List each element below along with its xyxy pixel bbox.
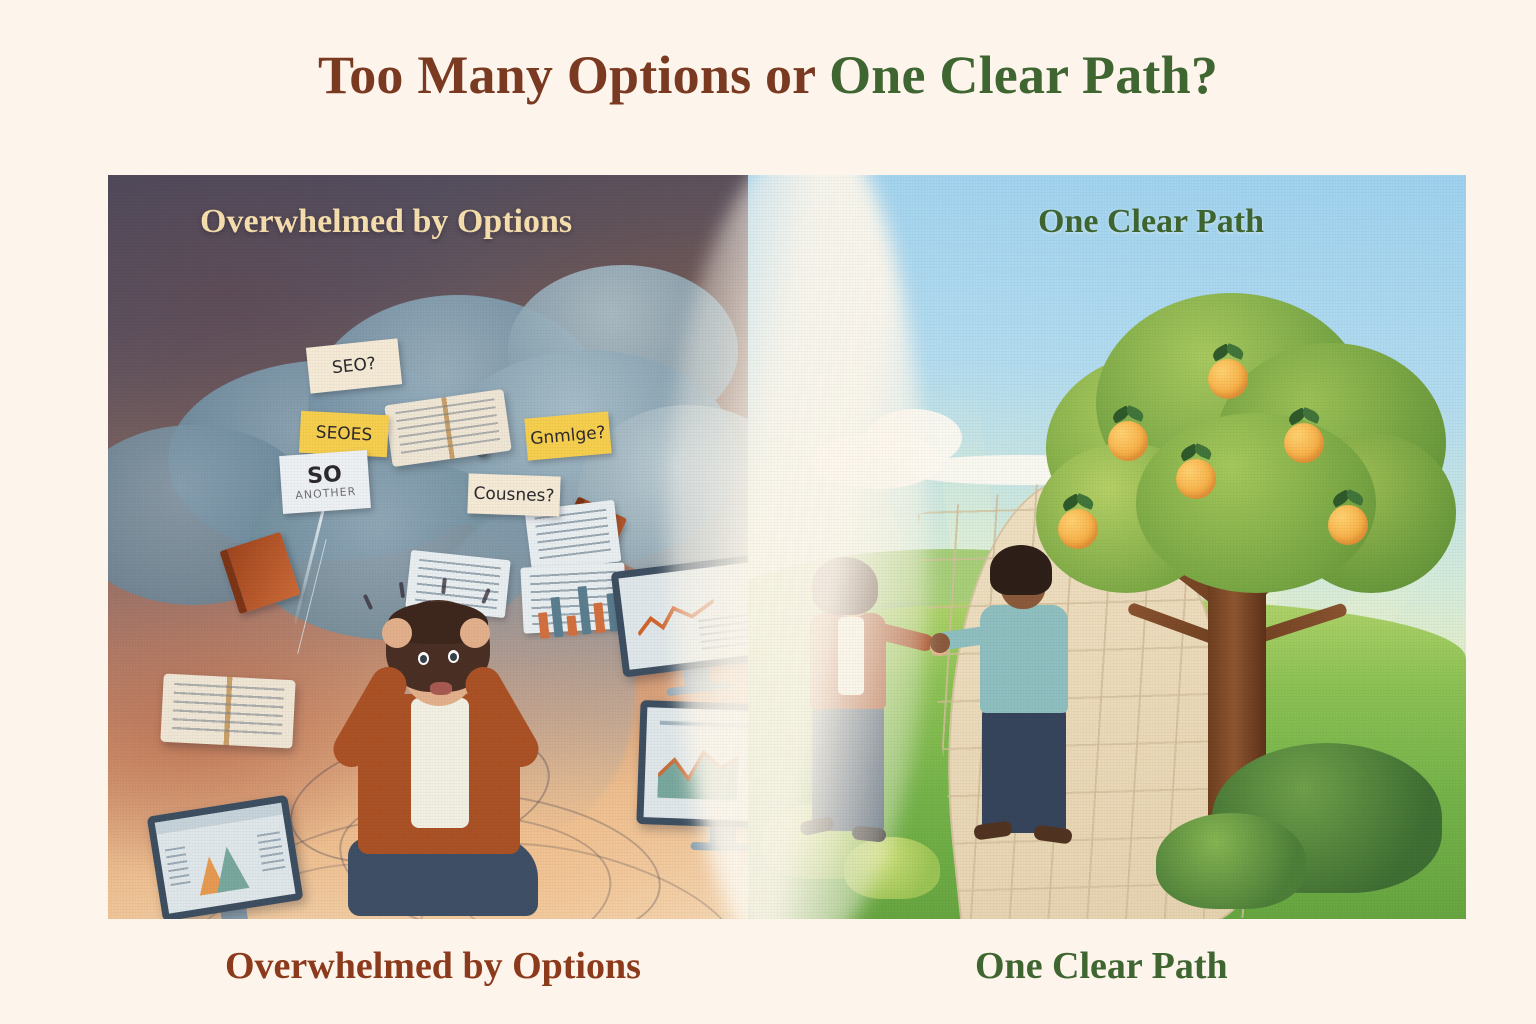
- page-title: Too Many Options or One Clear Path?: [0, 48, 1536, 102]
- fruit-icon: [1284, 423, 1324, 463]
- fruit-icon: [1208, 359, 1248, 399]
- man-hair: [990, 545, 1052, 595]
- poster-canvas: Too Many Options or One Clear Path? ?: [0, 0, 1536, 1024]
- fruit-icon: [1328, 505, 1368, 545]
- stressed-woman-figure: [308, 590, 558, 919]
- caption-left: Overwhelmed by Options: [225, 944, 641, 988]
- figure-hand-right: [460, 618, 490, 648]
- open-book-icon: [160, 673, 295, 748]
- sticky-note-cousnes: Cousnes?: [467, 473, 560, 516]
- title-green-part: One Clear Path?: [829, 45, 1218, 105]
- man-hand: [930, 633, 950, 653]
- caption-right: One Clear Path: [975, 944, 1228, 988]
- sticky-note-so: SO ANOTHER: [279, 450, 371, 514]
- figure-hand-left: [382, 618, 412, 648]
- sticky-note-seoes: SEOES: [299, 411, 389, 458]
- figure-eye: [418, 652, 429, 665]
- shrub: [1156, 813, 1306, 909]
- woman-shoe: [851, 825, 886, 842]
- man-shoe: [1033, 824, 1073, 844]
- monitor-mountain-chart: [147, 795, 308, 919]
- illustration-frame: ? SEO? SEOES SO ANOTHER Gnmlge? Cousnes?: [108, 175, 1466, 919]
- sticky-note-so-sub: ANOTHER: [295, 486, 357, 502]
- sticky-note-seo: SEO?: [306, 338, 402, 393]
- sticky-note-gnmlge: Gnmlge?: [524, 411, 611, 460]
- fruit-icon: [1176, 459, 1216, 499]
- mountain-chart-icon: [192, 836, 258, 896]
- left-panel-label: Overwhelmed by Options: [200, 203, 572, 241]
- woman-shoe: [799, 816, 835, 837]
- right-panel-label: One Clear Path: [1038, 203, 1264, 241]
- area-chart-icon: [657, 736, 739, 800]
- figure-eye: [448, 650, 459, 663]
- title-brown-part: Too Many Options or: [318, 45, 829, 105]
- woman-legs: [812, 703, 884, 831]
- man-shoe: [973, 820, 1013, 840]
- right-panel-calm: [748, 175, 1466, 919]
- left-panel-chaos: ? SEO? SEOES SO ANOTHER Gnmlge? Cousnes?: [108, 175, 808, 919]
- figure-shirt: [411, 698, 469, 828]
- man-legs: [982, 707, 1066, 833]
- fruit-icon: [1108, 421, 1148, 461]
- man-sweater: [980, 605, 1068, 713]
- woman-hair: [812, 557, 878, 615]
- woman-shirt: [838, 617, 864, 695]
- two-people-greeting: [790, 541, 1120, 871]
- figure-mouth: [430, 682, 452, 695]
